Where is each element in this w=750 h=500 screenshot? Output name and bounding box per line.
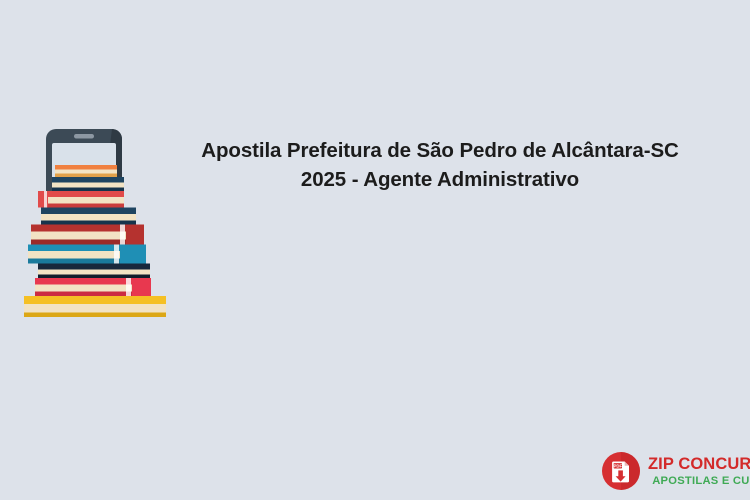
book-stack [24,165,166,317]
title-line-2: 2025 - Agente Administrativo [160,165,720,194]
product-banner: Apostila Prefeitura de São Pedro de Alcâ… [0,0,750,500]
logo-primary-text: ZIP CONCURSOS [648,456,750,473]
pdf-download-icon: PDF [601,451,641,491]
logo-secondary-text: APOSTILAS E CURSOS [648,476,750,487]
page-title: Apostila Prefeitura de São Pedro de Alcâ… [160,136,720,194]
stacked-books-with-tablet-illustration [8,118,178,318]
svg-text:PDF: PDF [613,463,622,468]
zip-concursos-logo[interactable]: PDF ZIP CONCURSOS APOSTILAS E CURSOS [601,449,741,493]
logo-wordmark: ZIP CONCURSOS APOSTILAS E CURSOS [648,455,750,487]
title-line-1: Apostila Prefeitura de São Pedro de Alcâ… [160,136,720,165]
